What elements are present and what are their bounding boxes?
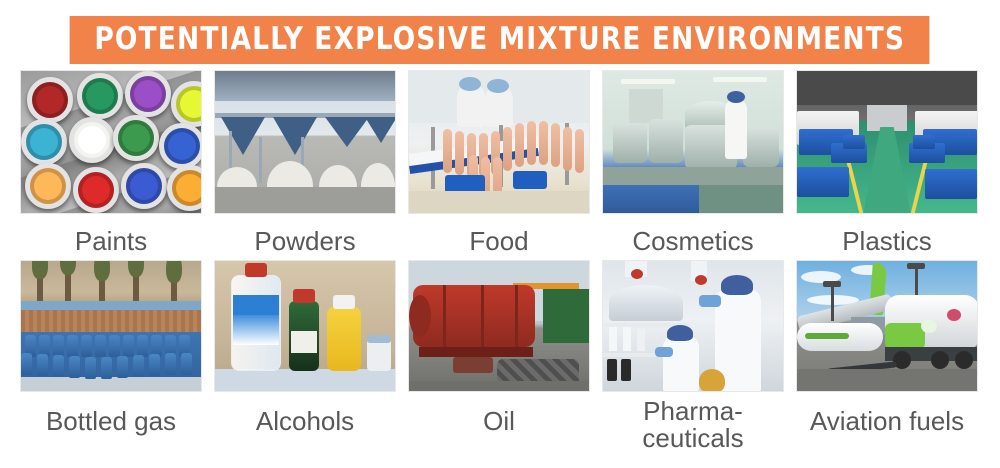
tile-grid: Paints [14, 70, 986, 460]
tile-pharmaceuticals[interactable]: Pharma- ceuticals [596, 260, 790, 460]
page-title: Potentially Explosive Mixture Environmen… [70, 16, 930, 64]
tile-label-bottled-gas: Bottled gas [46, 408, 176, 435]
tile-image-plastics [796, 70, 978, 214]
infographic-page: Potentially Explosive Mixture Environmen… [0, 0, 1000, 468]
tile-label-pharmaceuticals: Pharma- ceuticals [618, 398, 768, 453]
tile-row-1: Paints [14, 70, 986, 260]
tile-cosmetics[interactable]: Cosmetics [596, 70, 790, 260]
tile-image-cosmetics [602, 70, 784, 214]
tile-alcohols[interactable]: Alcohols [208, 260, 402, 460]
tile-image-food [408, 70, 590, 214]
tile-label-oil: Oil [483, 408, 515, 435]
tile-image-oil [408, 260, 590, 392]
title-banner-wrapper: Potentially Explosive Mixture Environmen… [0, 16, 1000, 64]
tile-food[interactable]: Food [402, 70, 596, 260]
tile-image-aviation-fuels [796, 260, 978, 392]
tile-powders[interactable]: Powders [208, 70, 402, 260]
tile-image-bottled-gas [20, 260, 202, 392]
tile-label-food: Food [469, 228, 528, 255]
tile-plastics[interactable]: Plastics [790, 70, 984, 260]
tile-bottled-gas[interactable]: Bottled gas [14, 260, 208, 460]
tile-image-alcohols [214, 260, 396, 392]
tile-oil[interactable]: Oil [402, 260, 596, 460]
tile-aviation-fuels[interactable]: Aviation fuels [790, 260, 984, 460]
tile-label-paints: Paints [75, 228, 147, 255]
tile-image-pharmaceuticals [602, 260, 784, 392]
tile-image-paints [20, 70, 202, 214]
tile-row-2: Bottled gas [14, 260, 986, 460]
tile-label-pharmaceuticals-line1: Pharma- [618, 398, 768, 425]
tile-label-plastics: Plastics [842, 228, 932, 255]
tile-paints[interactable]: Paints [14, 70, 208, 260]
tile-label-pharmaceuticals-line2: ceuticals [618, 425, 768, 452]
tile-image-powders [214, 70, 396, 214]
tile-label-powders: Powders [254, 228, 355, 255]
tile-label-aviation-fuels: Aviation fuels [810, 408, 964, 435]
tile-label-alcohols: Alcohols [256, 408, 354, 435]
tile-label-cosmetics: Cosmetics [632, 228, 753, 255]
